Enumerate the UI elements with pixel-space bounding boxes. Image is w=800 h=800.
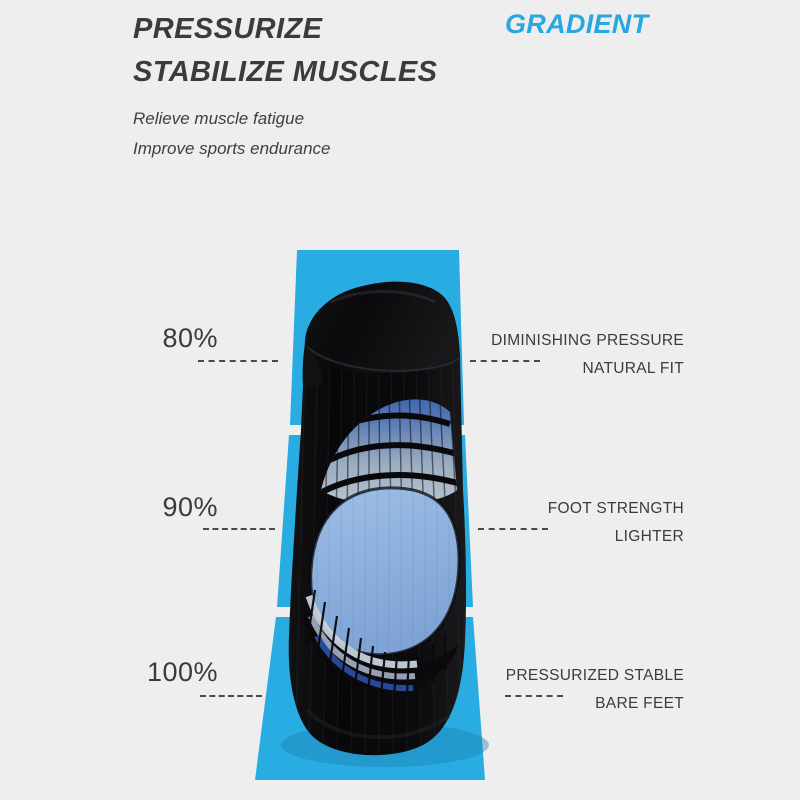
- callout-note-100-line-1: PRESSURIZED STABLE: [420, 662, 684, 690]
- headline-line-1: PRESSURIZE: [133, 8, 493, 51]
- callout-note-80-line-1: DIMINISHING PRESSURE: [420, 327, 684, 355]
- callout-note-90-line-2: LIGHTER: [420, 523, 684, 551]
- callout-note-90: FOOT STRENGTH LIGHTER: [420, 495, 684, 551]
- callout-note-100: PRESSURIZED STABLE BARE FEET: [420, 662, 684, 718]
- subtitle-line-2: Improve sports endurance: [133, 134, 331, 164]
- callout-note-100-line-2: BARE FEET: [420, 690, 684, 718]
- header: PRESSURIZE STABILIZE MUSCLES GRADIENT Re…: [0, 0, 800, 180]
- page-title: PRESSURIZE STABILIZE MUSCLES: [133, 8, 493, 94]
- infographic-poster: PRESSURIZE STABILIZE MUSCLES GRADIENT Re…: [0, 0, 800, 800]
- leader-line-left-100: [200, 695, 262, 697]
- leader-line-left-90: [203, 528, 275, 530]
- callout-note-90-line-1: FOOT STRENGTH: [420, 495, 684, 523]
- callout-percent-100: 100%: [80, 657, 218, 688]
- leader-line-left-80: [198, 360, 278, 362]
- subtitle-line-1: Relieve muscle fatigue: [133, 104, 331, 134]
- brand-word: GRADIENT: [505, 9, 648, 40]
- callout-percent-80: 80%: [90, 323, 218, 354]
- callout-percent-90: 90%: [90, 492, 218, 523]
- callout-note-80-line-2: NATURAL FIT: [420, 355, 684, 383]
- callout-note-80: DIMINISHING PRESSURE NATURAL FIT: [420, 327, 684, 383]
- headline-line-2: STABILIZE MUSCLES: [133, 51, 493, 94]
- subtitle-block: Relieve muscle fatigue Improve sports en…: [133, 104, 331, 164]
